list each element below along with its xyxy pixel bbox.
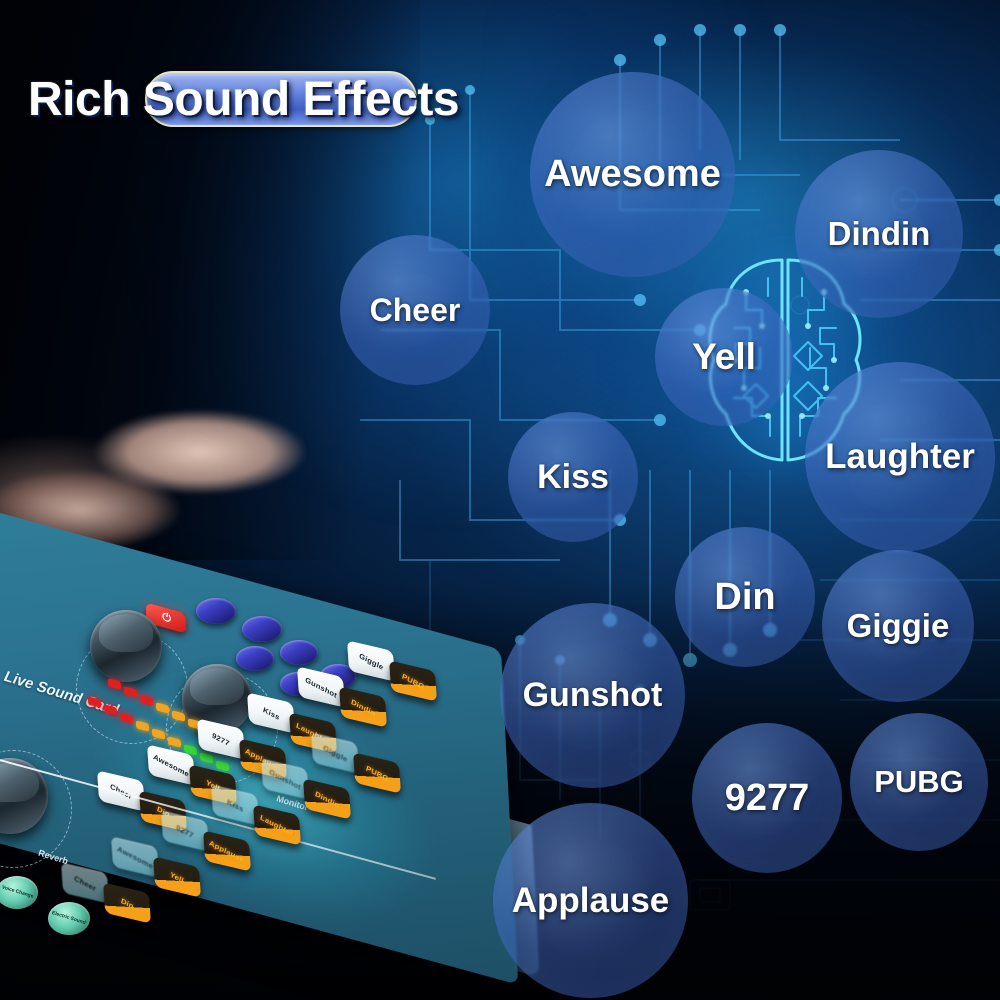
sound-bubble-label: Dindin: [828, 215, 931, 253]
round-button-3[interactable]: [236, 646, 274, 671]
pad-label: Kiss: [262, 705, 280, 722]
pad-label: Dindin: [314, 789, 340, 810]
round-button-2[interactable]: [242, 616, 282, 642]
sound-bubble-label: Cheer: [370, 292, 461, 329]
pad-label: PUBG: [401, 671, 425, 690]
pad-label: Gunshot: [268, 767, 302, 791]
pad-label: Dindin: [350, 697, 376, 718]
headline: Rich Sound Effects: [28, 68, 459, 130]
pad-label: Laughter: [259, 812, 294, 837]
effect-button-voice-change[interactable]: Voice Change: [0, 876, 38, 909]
pad-label: Giggle: [322, 743, 348, 764]
sound-bubble-label: Kiss: [537, 458, 609, 497]
effect-button-electric-sound[interactable]: Electric Sound: [48, 902, 90, 935]
pad-label: PUBG: [365, 763, 389, 782]
power-icon: ⏻: [160, 610, 171, 626]
pad-label: Awesome: [152, 752, 190, 778]
sound-bubble-applause: Applause: [493, 803, 688, 998]
effect-button-electric-label: Electric Sound: [51, 911, 86, 926]
pad-label: Gunshot: [304, 675, 338, 699]
sound-bubble-label: Din: [714, 576, 775, 619]
sound-bubble-awesome: Awesome: [530, 72, 735, 277]
pad-label: Applause: [209, 838, 246, 864]
round-button-1[interactable]: [196, 598, 236, 624]
sound-bubble-pubg: PUBG: [850, 713, 988, 851]
sound-bubble-yell: Yell: [655, 288, 793, 426]
sound-bubble-label: Yell: [692, 336, 756, 378]
pad-label: 9277: [211, 731, 230, 748]
round-button-4[interactable]: [280, 640, 318, 665]
sound-bubble-laughter: Laughter: [805, 362, 995, 552]
pad-label: Cheer: [73, 873, 97, 892]
sound-bubble-9277: 9277: [692, 723, 842, 873]
sound-bubble-kiss: Kiss: [508, 412, 638, 542]
sound-bubble-label: Applause: [512, 881, 670, 921]
sound-bubble-giggie: Giggie: [822, 550, 974, 702]
sound-bubble-cheer: Cheer: [340, 235, 490, 385]
pad-din-near[interactable]: Din: [103, 882, 151, 923]
pad-label: Yell: [169, 869, 185, 884]
device-panel: Live Sound Card Bass Treble Reverb Monit…: [0, 580, 560, 1000]
pad-label: Kiss: [226, 797, 244, 814]
sound-bubble-gunshot: Gunshot: [500, 603, 685, 788]
sound-bubble-dindin: Dindin: [795, 150, 963, 318]
page-title: Rich Sound Effects: [28, 72, 459, 127]
sound-bubble-label: Giggie: [847, 607, 950, 645]
pad-label: Din: [120, 896, 135, 911]
sound-bubble-din: Din: [675, 527, 815, 667]
promo-banner: Live Sound Card Bass Treble Reverb Monit…: [0, 0, 1000, 1000]
sound-bubble-label: 9277: [725, 777, 810, 820]
pad-label: Giggle: [358, 651, 384, 672]
effect-button-voice-change-label: Voice Change: [1, 885, 34, 900]
pad-label: 9277: [175, 823, 194, 840]
knob-bass[interactable]: [90, 610, 162, 682]
pad-label: Awesome: [116, 844, 154, 870]
sound-bubble-label: PUBG: [874, 764, 964, 800]
sound-bubble-label: Laughter: [825, 437, 975, 477]
sound-bubble-label: Gunshot: [523, 676, 663, 715]
sound-bubble-label: Awesome: [544, 153, 721, 196]
